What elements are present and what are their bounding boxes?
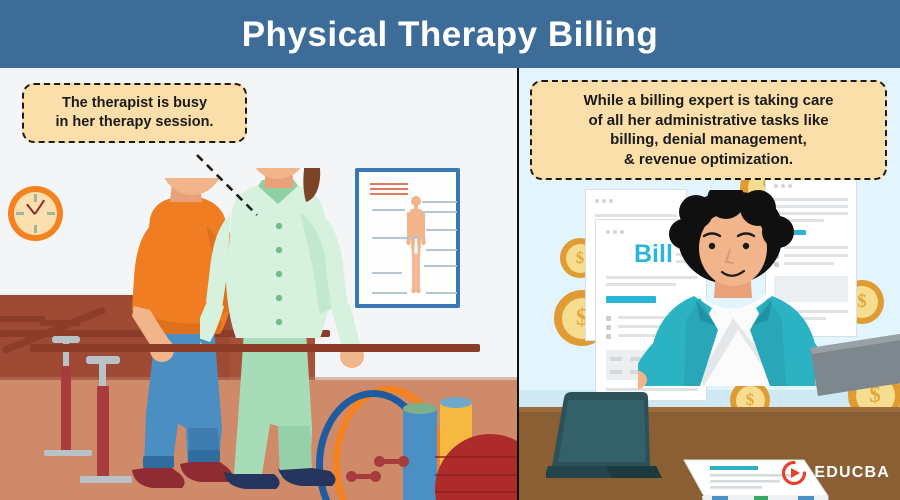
wall-clock-icon [8, 186, 63, 241]
poster-label-line [426, 229, 457, 231]
panel-divider [517, 68, 519, 500]
blue-yoga-mat [403, 406, 437, 500]
page-header: Physical Therapy Billing [0, 0, 900, 68]
left-panel-therapy-scene: The therapist is busy in her therapy ses… [0, 68, 518, 500]
clock-tick-6 [34, 225, 37, 233]
poster-label-line [424, 265, 457, 267]
right-bubble-line-4: & revenue optimization. [542, 150, 875, 170]
clipboard [804, 330, 900, 410]
poster-label-line [426, 249, 457, 251]
human-body-figure [405, 195, 427, 295]
parallel-bar-step [0, 316, 45, 322]
clock-tick-12 [34, 194, 37, 202]
parallel-bar-post [97, 386, 109, 480]
clock-tick-3 [47, 212, 55, 215]
educba-logo[interactable]: EDUCBA [781, 460, 890, 486]
poster-label-line [422, 211, 457, 213]
bar-clamp-stem [99, 360, 106, 388]
right-bubble-line-1: While a billing expert is taking care [542, 91, 875, 111]
left-bubble-line-1: The therapist is busy [32, 94, 237, 113]
left-speech-bubble: The therapist is busy in her therapy ses… [22, 83, 247, 143]
blue-yoga-mat-top [403, 403, 437, 414]
laptop [546, 388, 676, 483]
right-panel-billing-scene: $ $ $ $ $ $ [518, 68, 900, 500]
clock-tick-9 [16, 212, 24, 215]
parallel-bar-rail-front [30, 344, 480, 352]
parallel-bar-step [40, 320, 80, 326]
parallel-bar-post [61, 366, 71, 454]
educba-mark-icon [781, 460, 807, 486]
right-speech-bubble: While a billing expert is taking care of… [530, 80, 887, 180]
left-bubble-line-2: in her therapy session. [32, 113, 237, 132]
parallel-bar-base [44, 450, 92, 456]
clock-face [14, 192, 57, 235]
right-bubble-line-2: of all her administrative tasks like [542, 111, 875, 131]
page-title: Physical Therapy Billing [242, 17, 659, 52]
poster-label-line [426, 292, 457, 294]
poster-label-line [422, 201, 457, 203]
yellow-yoga-mat-top [440, 397, 472, 408]
right-bubble-line-3: billing, denial management, [542, 130, 875, 150]
educba-logo-text: EDUCBA [814, 464, 890, 482]
screenshot-root: Physical Therapy Billing [0, 0, 900, 500]
